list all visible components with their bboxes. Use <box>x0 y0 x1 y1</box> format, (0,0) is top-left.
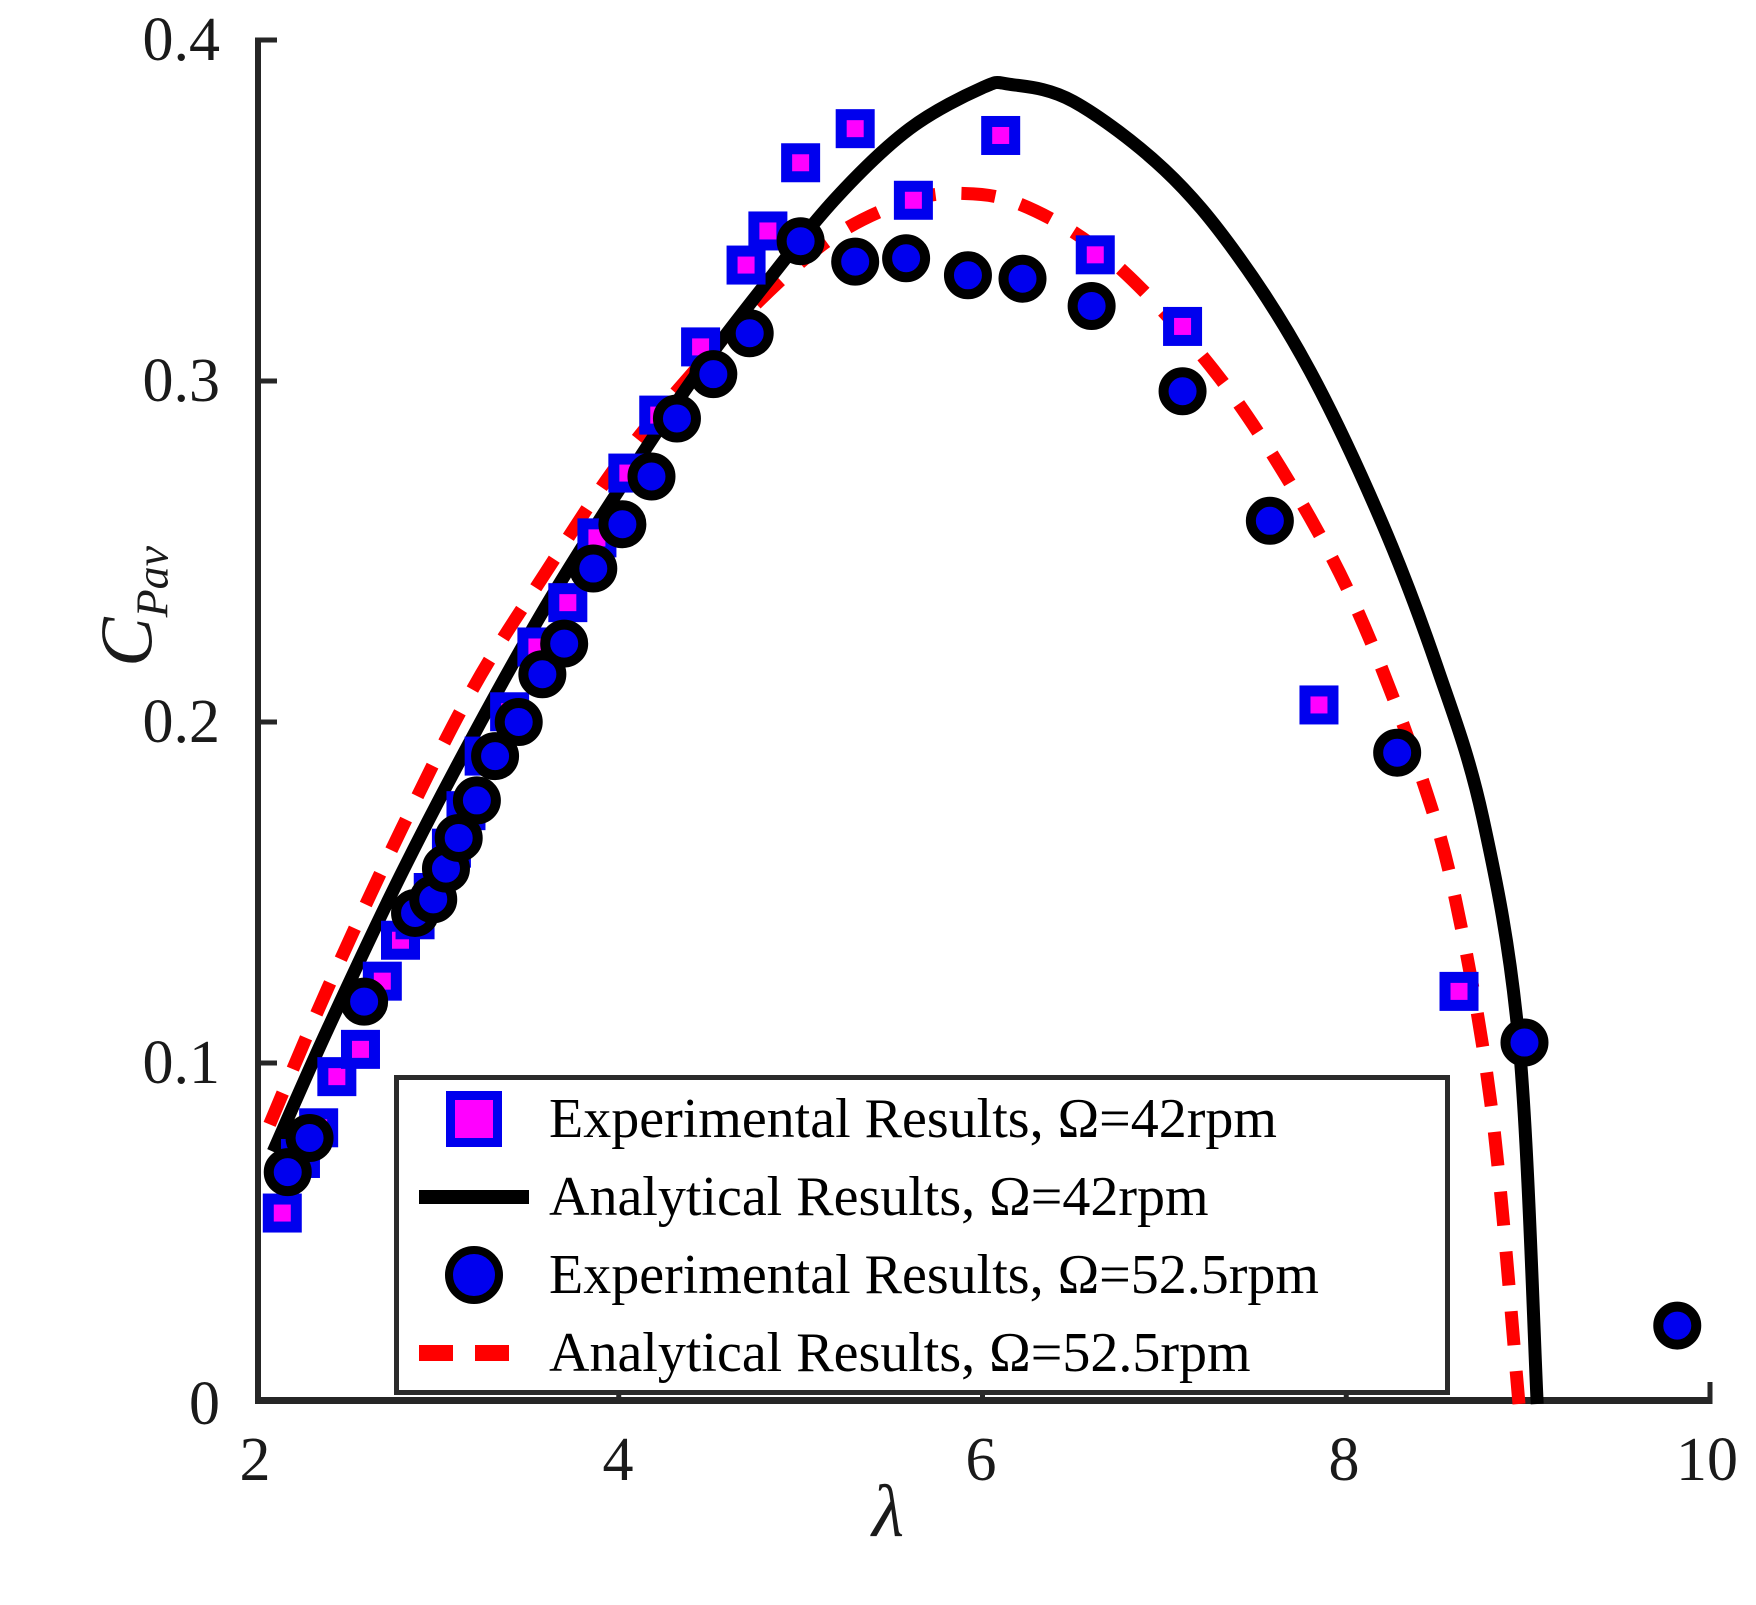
y-axis-label: CPav <box>86 456 179 756</box>
xtick-label-2: 2 <box>195 1425 315 1496</box>
ytick-label-0.3: 0.3 <box>20 346 220 417</box>
legend-label-ana-525: Analytical Results, Ω=52.5rpm <box>549 1325 1251 1381</box>
circle-marker-icon <box>399 1246 549 1304</box>
y-axis-label-base: C <box>87 617 169 666</box>
legend-label-exp-42: Experimental Results, Ω=42rpm <box>549 1091 1277 1147</box>
dashed-line-icon <box>399 1345 549 1361</box>
y-axis-label-sub: Pav <box>126 546 177 617</box>
figure: 0.4 0.3 0.2 0.1 0 CPav 2 4 6 8 10 λ Expe… <box>0 0 1756 1605</box>
ytick-label-0: 0 <box>20 1369 220 1440</box>
xtick-label-10: 10 <box>1647 1425 1756 1496</box>
legend-item-ana-42[interactable]: Analytical Results, Ω=42rpm <box>399 1158 1445 1236</box>
x-axis-label: λ <box>828 1470 948 1555</box>
legend-item-exp-42[interactable]: Experimental Results, Ω=42rpm <box>399 1080 1445 1158</box>
solid-line-icon <box>399 1190 549 1204</box>
legend-item-exp-525[interactable]: Experimental Results, Ω=52.5rpm <box>399 1236 1445 1314</box>
legend-box: Experimental Results, Ω=42rpm Analytical… <box>394 1075 1450 1395</box>
xtick-label-8: 8 <box>1284 1425 1404 1496</box>
legend-label-exp-525: Experimental Results, Ω=52.5rpm <box>549 1247 1319 1303</box>
ytick-label-0.1: 0.1 <box>20 1028 220 1099</box>
square-marker-icon <box>399 1091 549 1147</box>
legend-label-ana-42: Analytical Results, Ω=42rpm <box>549 1169 1209 1225</box>
ytick-label-0.4: 0.4 <box>20 5 220 76</box>
legend-item-ana-525[interactable]: Analytical Results, Ω=52.5rpm <box>399 1314 1445 1392</box>
xtick-label-4: 4 <box>558 1425 678 1496</box>
